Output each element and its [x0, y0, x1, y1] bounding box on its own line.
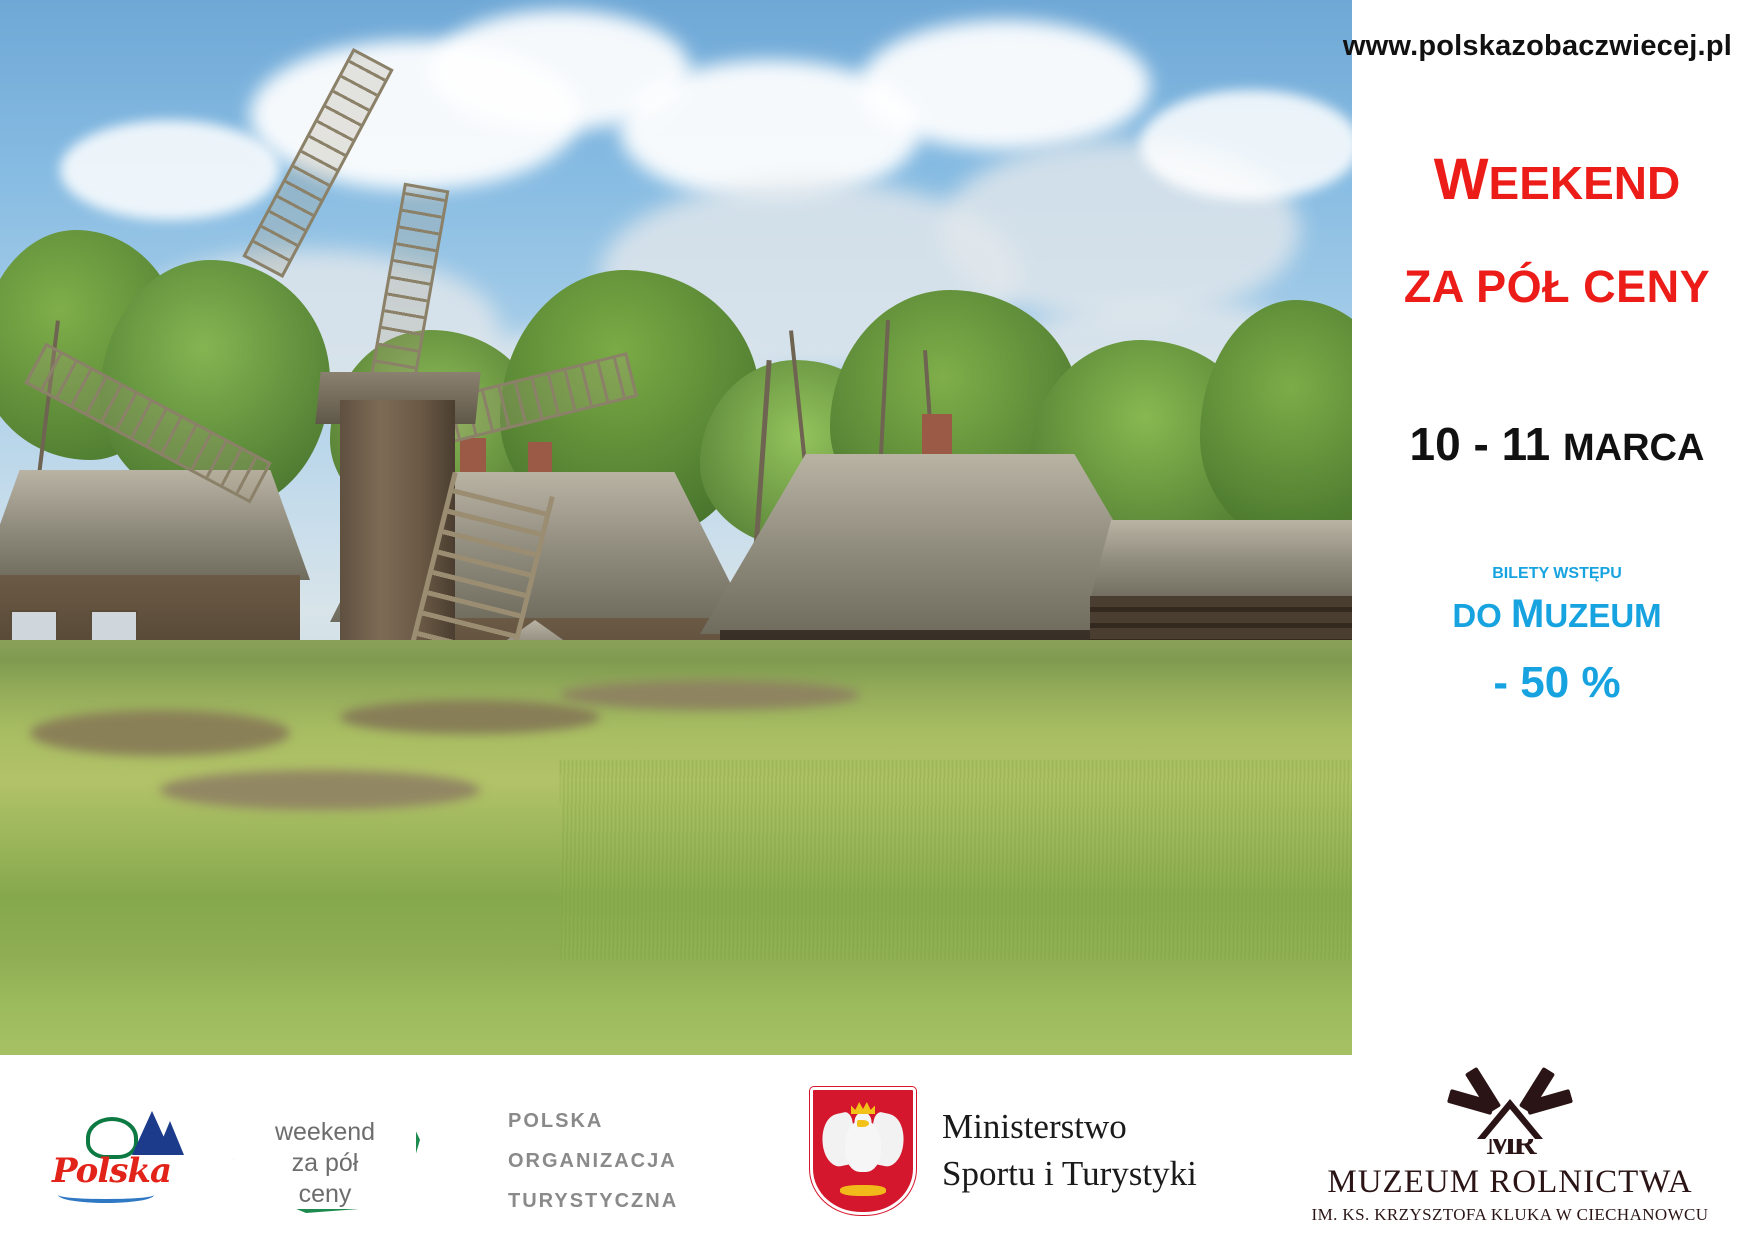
promo-text-column: WEEKEND ZA PÓŁ CENY 10 - 11 MARCA BILETY… — [1360, 150, 1754, 708]
headline-weekend: WEEKEND — [1360, 150, 1754, 211]
pot-line3: TURYSTYCZNA — [508, 1181, 678, 1221]
offer-text: BILETY WSTĘPU DO MUZEUM — [1360, 563, 1754, 643]
ministry-line1: Ministerstwo — [942, 1104, 1197, 1151]
offer-line-museum-rest: UZEUM — [1544, 597, 1661, 634]
dirt-patch — [340, 700, 600, 734]
pot-line2: ORGANIZACJA — [508, 1141, 678, 1181]
dirt-patch — [160, 770, 480, 810]
museum-subtitle: IM. KS. KRZYSZTOFA KLUKA W CIECHANOWCU — [1300, 1205, 1720, 1225]
hero-photo — [0, 0, 1352, 1055]
offer-line-museum: DO MUZEUM — [1360, 586, 1754, 643]
eagle-talons — [840, 1185, 886, 1196]
event-date-days: 10 - 11 — [1410, 418, 1563, 470]
eagle-beak — [857, 1120, 869, 1127]
offer-line-museum-initial: M — [1511, 592, 1544, 636]
dirt-patch — [30, 710, 290, 756]
poster-root: www.polskazobaczwiecej.pl WEEKEND ZA PÓŁ… — [0, 0, 1754, 1240]
sponsor-logo-bar: Polska weekend za pół ceny POLSKA ORGANI… — [0, 1055, 1754, 1240]
polish-eagle-crest-icon — [810, 1087, 916, 1215]
chimney — [922, 414, 952, 460]
polska-wordmark: Polska — [52, 1151, 171, 1191]
event-date: 10 - 11 MARCA — [1360, 417, 1754, 471]
thatched-roof — [1090, 520, 1352, 600]
pot-line1: POLSKA — [508, 1101, 678, 1141]
cloud — [860, 20, 1150, 150]
cloud — [1140, 90, 1352, 200]
event-date-month: MARCA — [1563, 427, 1704, 469]
crown-icon — [851, 1101, 875, 1114]
headline-weekend-initial: W — [1434, 147, 1489, 212]
weekend-za-pol-ceny-logo[interactable]: weekend za pół ceny — [230, 1091, 420, 1213]
windmill-house-inner — [1485, 1109, 1535, 1139]
discount-value: - 50 % — [1360, 658, 1754, 708]
tall-grass — [560, 760, 1352, 960]
weekend-logo-line3: ceny — [230, 1179, 420, 1210]
website-url[interactable]: www.polskazobaczwiecej.pl — [1343, 30, 1732, 63]
weekend-logo-line1: weekend — [230, 1117, 420, 1148]
headline-half-price: ZA PÓŁ CENY — [1360, 261, 1754, 313]
mountain-icon — [156, 1121, 184, 1155]
ministry-name: Ministerstwo Sportu i Turystyki — [942, 1104, 1197, 1198]
pot-logo-text: POLSKA ORGANIZACJA TURYSTYCZNA — [508, 1101, 678, 1221]
museum-title: MUZEUM ROLNICTWA — [1300, 1164, 1720, 1201]
museum-logo[interactable]: MR MUZEUM ROLNICTWA IM. KS. KRZYSZTOFA K… — [1300, 1065, 1720, 1225]
offer-line-museum-prefix: DO — [1452, 597, 1511, 634]
wave-icon — [58, 1187, 154, 1203]
weekend-logo-line2: za pół — [230, 1148, 420, 1179]
dirt-patch — [560, 680, 860, 710]
ministry-logo[interactable]: Ministerstwo Sportu i Turystyki — [810, 1087, 1197, 1215]
weekend-logo-text: weekend za pół ceny — [230, 1117, 420, 1210]
ministry-line2: Sportu i Turystyki — [942, 1151, 1197, 1198]
headline-weekend-rest: EEKEND — [1489, 157, 1681, 209]
windmill-sail — [367, 183, 450, 404]
offer-line-tickets: BILETY WSTĘPU — [1360, 563, 1754, 586]
windmill-icon — [1462, 1065, 1558, 1139]
polska-logo[interactable]: Polska — [52, 1107, 202, 1197]
